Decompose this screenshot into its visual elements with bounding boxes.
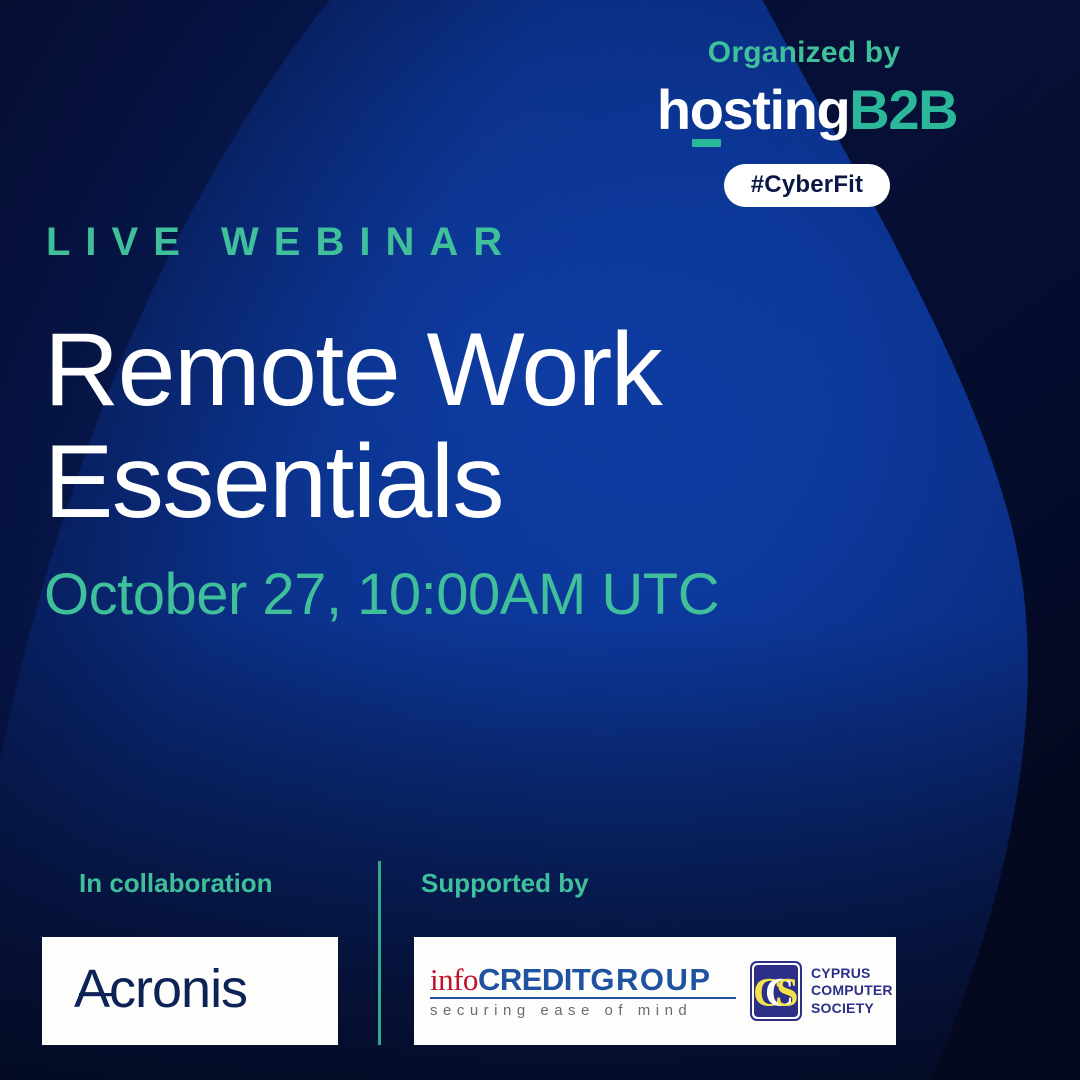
acronis-a-crossbar bbox=[79, 993, 112, 996]
ccs-logo: C C S CYPRUS COMPUTER SOCIETY bbox=[750, 961, 893, 1021]
supporters-logo-card: infoCREDITGROUP securing ease of mind C … bbox=[414, 937, 896, 1045]
ccs-monogram-icon: C C S bbox=[754, 965, 798, 1017]
ccs-line-3: SOCIETY bbox=[811, 1000, 893, 1018]
eyebrow-live-webinar: LIVE WEBINAR bbox=[46, 222, 517, 262]
ccs-line-2: COMPUTER bbox=[811, 982, 893, 1000]
ccs-wordmark: CYPRUS COMPUTER SOCIETY bbox=[811, 965, 893, 1018]
infocredit-tagline: securing ease of mind bbox=[430, 1002, 736, 1019]
event-datetime: October 27, 10:00AM UTC bbox=[44, 566, 719, 624]
hostingb2b-h: h bbox=[657, 78, 690, 141]
infocredit-credit-word: CREDIT bbox=[478, 962, 590, 997]
hostingb2b-b2b: B2B bbox=[849, 78, 957, 141]
hostingb2b-underline-bar bbox=[692, 139, 721, 147]
ccs-badge: C C S bbox=[750, 961, 802, 1021]
svg-text:S: S bbox=[776, 970, 798, 1015]
hostingb2b-logo: hostingB2B bbox=[592, 82, 1022, 138]
organizer-block: Organized by hostingB2B #CyberFit bbox=[592, 38, 1022, 207]
acronis-logo-card: Acronis bbox=[42, 937, 338, 1045]
infocredit-group-logo: infoCREDITGROUP securing ease of mind bbox=[430, 964, 736, 1019]
hostingb2b-o: o bbox=[690, 78, 723, 141]
partner-divider bbox=[378, 861, 381, 1045]
acronis-logo: Acronis bbox=[74, 962, 306, 1020]
poster-canvas: Organized by hostingB2B #CyberFit LIVE W… bbox=[0, 0, 1080, 1080]
infocredit-group-word: GROUP bbox=[590, 962, 711, 997]
cyberfit-badge: #CyberFit bbox=[724, 164, 891, 207]
ccs-line-1: CYPRUS bbox=[811, 965, 893, 983]
hostingb2b-sting: sting bbox=[723, 78, 850, 141]
in-collaboration-label: In collaboration bbox=[79, 870, 273, 896]
page-title: Remote Work Essentials bbox=[44, 314, 804, 539]
organized-by-label: Organized by bbox=[592, 38, 1022, 68]
infocredit-rule bbox=[430, 997, 736, 999]
supported-by-label: Supported by bbox=[421, 870, 589, 896]
hostingb2b-o-group: o bbox=[690, 82, 723, 138]
svg-text:Acronis: Acronis bbox=[74, 962, 247, 1019]
ccs-badge-inner: C C S bbox=[754, 965, 798, 1017]
infocredit-info-word: info bbox=[430, 962, 478, 997]
